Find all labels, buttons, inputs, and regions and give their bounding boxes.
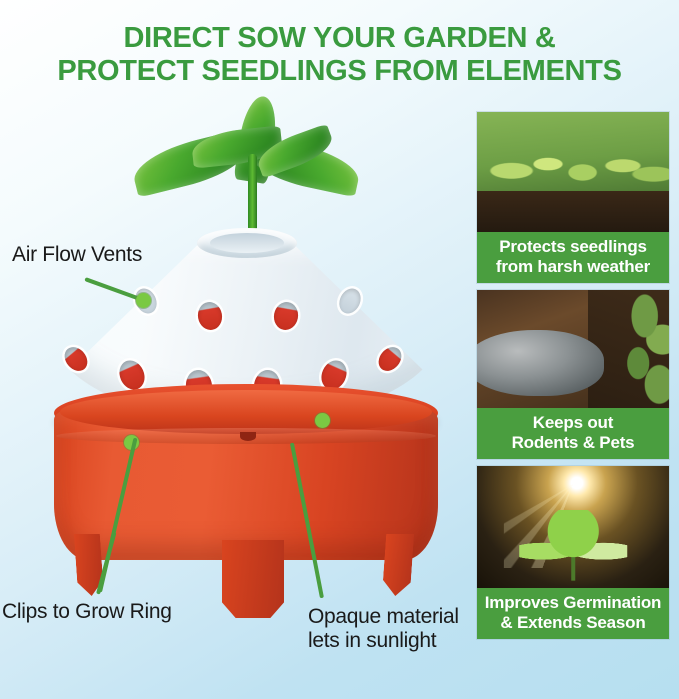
- feature-caption-line-2: Rodents & Pets: [479, 433, 667, 453]
- base-leg: [382, 534, 414, 596]
- feature-caption-line-2: & Extends Season: [479, 613, 667, 633]
- callout-dot-opaque-material: [315, 413, 330, 428]
- squirrel-in-garden-photo: [477, 290, 669, 408]
- headline-line-1: Direct Sow Your Garden &: [123, 22, 555, 54]
- product-illustration: [22, 96, 462, 606]
- base-graphic: [54, 384, 438, 592]
- headline-line-2: Protect Seedlings from Elements: [0, 55, 679, 88]
- feature-caption: Keeps out Rodents & Pets: [477, 408, 669, 459]
- feature-caption: Improves Germination & Extends Season: [477, 588, 669, 639]
- seedlings-in-rain-photo: [477, 112, 669, 232]
- feature-caption: Protects seedlings from harsh weather: [477, 232, 669, 283]
- feature-panel-keeps-out-rodents: Keeps out Rodents & Pets: [477, 290, 669, 459]
- callout-label-clips-to-grow-ring: Clips to Grow Ring: [2, 600, 172, 624]
- feature-caption-line-1: Improves Germination: [479, 593, 667, 613]
- callout-dot-air-flow-vents: [136, 293, 151, 308]
- feature-panel-improves-germination: Improves Germination & Extends Season: [477, 466, 669, 639]
- feature-caption-line-1: Protects seedlings: [479, 237, 667, 257]
- callout-label-opaque-material: Opaque material lets in sunlight: [308, 605, 459, 653]
- page-title: Direct Sow Your Garden & Protect Seedlin…: [0, 22, 679, 88]
- callout-label-air-flow-vents: Air Flow Vents: [12, 243, 142, 267]
- feature-panel-list: Protects seedlings from harsh weather Ke…: [477, 112, 669, 646]
- sunlit-sprout-photo: [477, 466, 669, 588]
- feature-panel-protects-seedlings: Protects seedlings from harsh weather: [477, 112, 669, 283]
- dome-opening: [210, 233, 284, 253]
- infographic-canvas: Direct Sow Your Garden & Protect Seedlin…: [0, 0, 679, 699]
- feature-caption-line-2: from harsh weather: [479, 257, 667, 277]
- base-notch: [240, 432, 256, 441]
- feature-caption-line-1: Keeps out: [479, 413, 667, 433]
- base-leg: [222, 540, 284, 618]
